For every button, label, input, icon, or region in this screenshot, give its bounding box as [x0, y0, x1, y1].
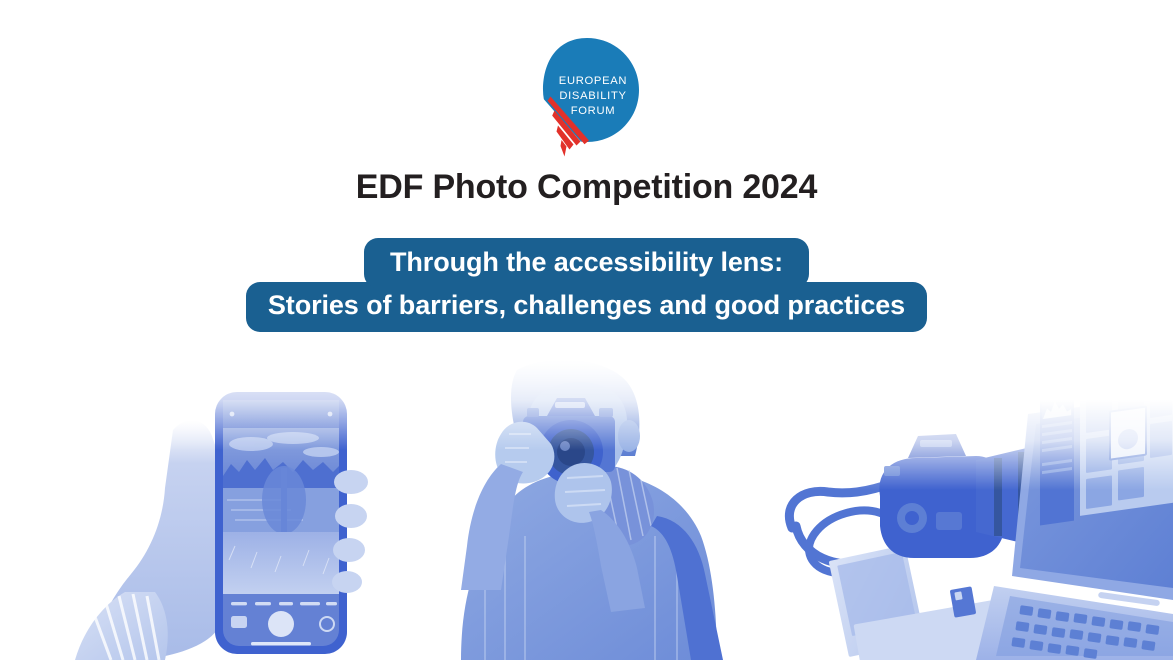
subtitle-banner: Through the accessibility lens: Stories … — [0, 238, 1173, 332]
logo-line-1: EUROPEAN — [558, 75, 626, 87]
dslr-dial-center — [905, 511, 919, 525]
editor-canvas — [1080, 400, 1173, 516]
banner-line-1: Through the accessibility lens: — [364, 238, 809, 288]
flash-icon — [230, 412, 235, 417]
page-title: EDF Photo Competition 2024 — [0, 168, 1173, 207]
photo-hand-holding-smartphone-camera — [55, 360, 425, 660]
logo-container: EUROPEAN DISABILITY FORUM — [0, 36, 1173, 158]
banner-line-2: Stories of barriers, challenges and good… — [246, 282, 927, 332]
ear — [618, 420, 640, 452]
photo-person-with-film-camera — [405, 360, 775, 660]
poster-canvas: EUROPEAN DISABILITY FORUM EDF Photo Comp… — [0, 0, 1173, 660]
gallery-thumbnail — [231, 616, 247, 628]
photo-dslr-prints-and-laptop — [780, 400, 1173, 660]
dslr-brand-plate — [920, 440, 952, 447]
lens-reflection — [560, 441, 570, 451]
dslr-lcd — [936, 512, 962, 530]
photo-collage — [0, 340, 1173, 660]
dslr-hot-shoe — [884, 466, 900, 476]
european-disability-forum-logo: EUROPEAN DISABILITY FORUM — [531, 36, 643, 158]
logo-line-3: FORUM — [570, 105, 615, 117]
camera-app-top-bar — [223, 400, 339, 428]
settings-icon — [328, 412, 333, 417]
logo-line-2: DISABILITY — [559, 90, 626, 102]
memory-card-label — [954, 591, 962, 600]
film-advance-lever — [599, 408, 613, 417]
viewfinder-meadow — [223, 532, 339, 594]
camera-lens-glass — [557, 438, 585, 466]
photo-prints — [829, 545, 1003, 660]
shutter-button — [268, 611, 294, 637]
viewfinder-tree-foliage — [262, 466, 306, 534]
camera-brand-plate — [555, 402, 585, 408]
rewind-knob — [527, 408, 539, 417]
home-indicator — [251, 642, 311, 645]
